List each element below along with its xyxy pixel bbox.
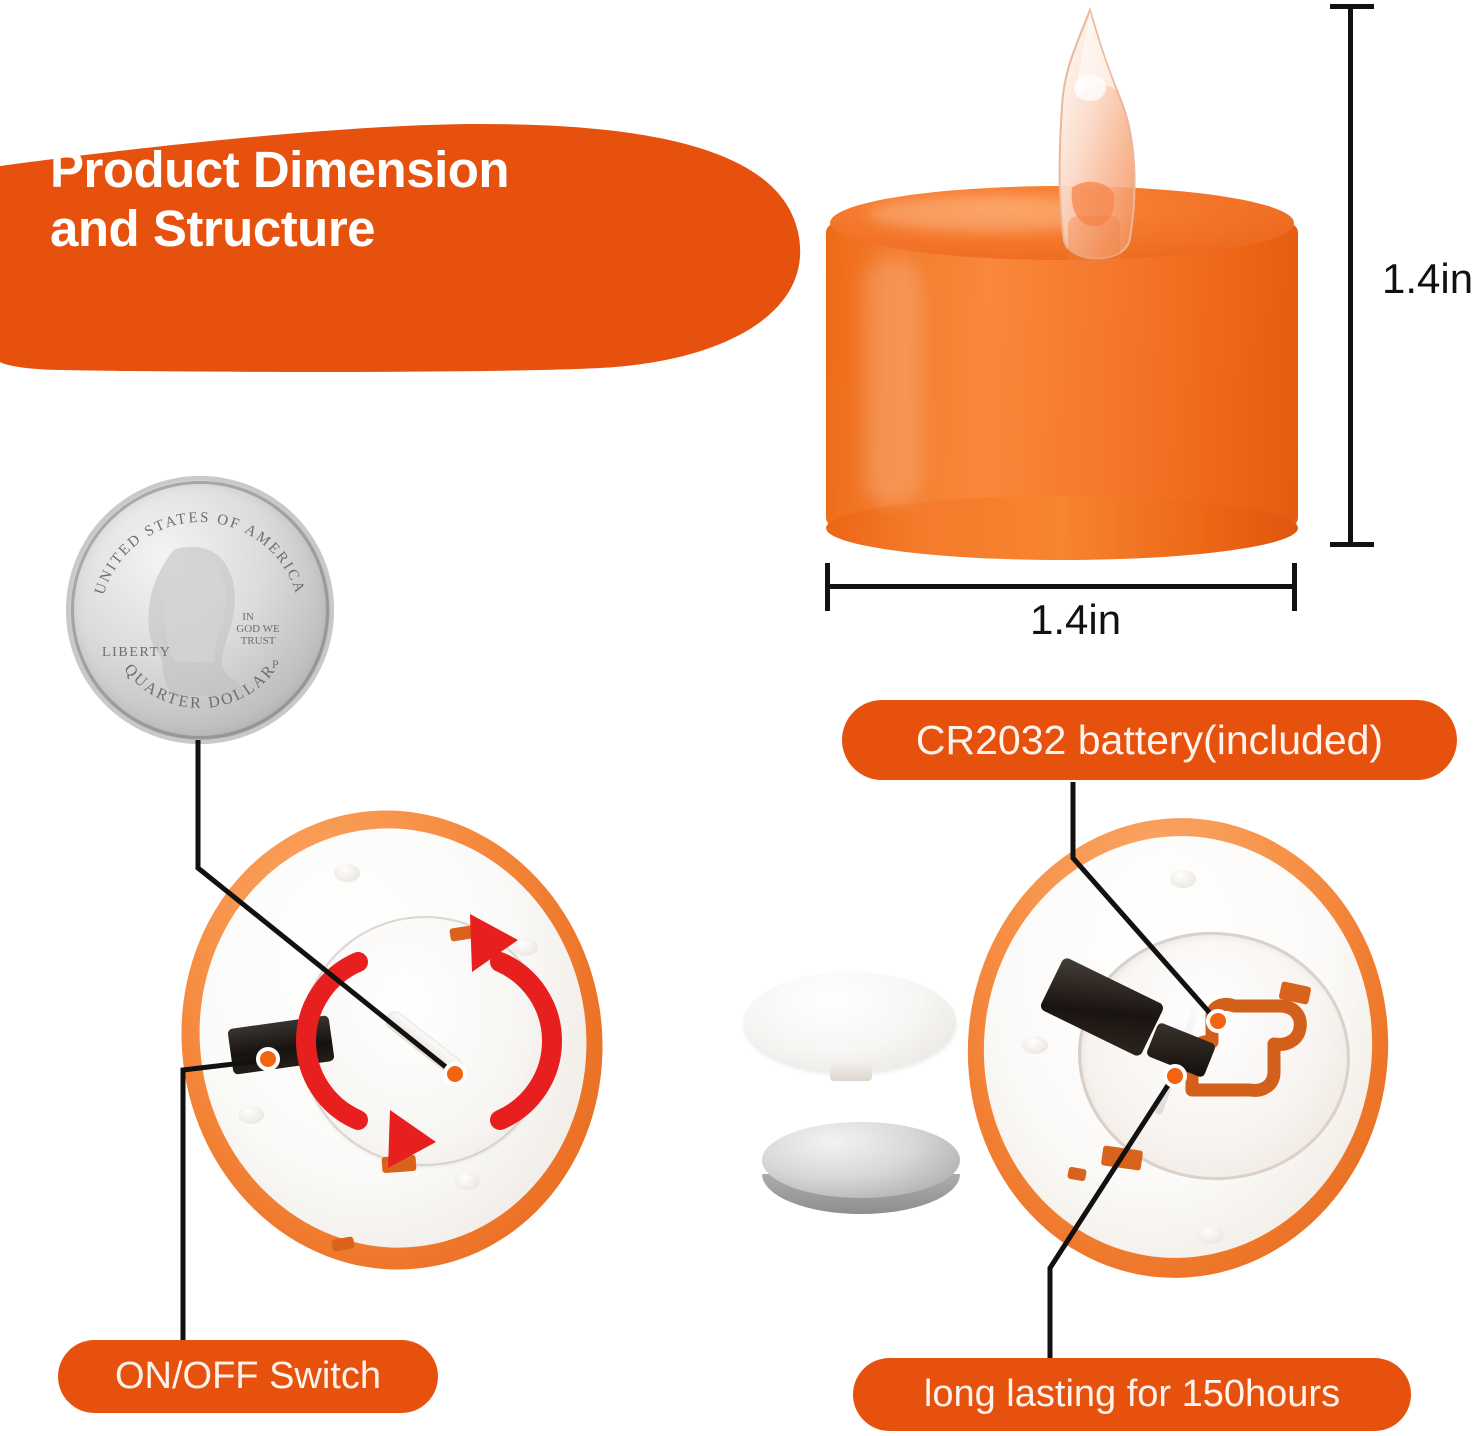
svg-text:P: P bbox=[272, 657, 279, 671]
leader-dot-switch bbox=[256, 1047, 280, 1071]
height-dimension-line bbox=[1348, 6, 1353, 546]
rotate-arrows-icon bbox=[284, 896, 574, 1186]
callout-battery-label: CR2032 battery(included) bbox=[842, 700, 1457, 780]
svg-text:GOD WE: GOD WE bbox=[236, 623, 280, 635]
candle-side-highlight bbox=[864, 256, 922, 506]
base-bump bbox=[1022, 1036, 1048, 1054]
page-title: Product Dimension and Structure bbox=[50, 140, 750, 258]
infographic-canvas: Product Dimension and Structure bbox=[0, 0, 1475, 1436]
leader-dot-battery bbox=[1206, 1009, 1230, 1033]
width-dimension-cap-right bbox=[1292, 563, 1297, 611]
led-flame-bulb-icon bbox=[1028, 2, 1164, 274]
callout-switch-label: ON/OFF Switch bbox=[58, 1340, 438, 1413]
cr2032-coin-cell-part bbox=[762, 1122, 960, 1218]
battery-top-face bbox=[762, 1122, 960, 1198]
battery-cover-nub bbox=[830, 1063, 872, 1081]
height-dimension-cap-bottom bbox=[1330, 542, 1374, 547]
svg-text:LIBERTY: LIBERTY bbox=[102, 645, 171, 660]
base-bump bbox=[1170, 870, 1196, 888]
leader-dot-twist-cap bbox=[443, 1062, 467, 1086]
leader-dot-hours bbox=[1163, 1064, 1187, 1088]
us-quarter-coin: UNITED STATES OF AMERICA QUARTER DOLLAR … bbox=[66, 476, 334, 744]
product-candle-open-battery-view bbox=[968, 818, 1388, 1286]
width-dimension-label: 1.4in bbox=[1030, 596, 1121, 644]
svg-text:TRUST: TRUST bbox=[241, 635, 276, 647]
height-dimension-label: 1.4in bbox=[1382, 255, 1473, 303]
product-candle-bottom-view bbox=[182, 810, 602, 1278]
base-bump bbox=[334, 864, 360, 882]
svg-text:IN: IN bbox=[242, 611, 254, 623]
base-bump bbox=[238, 1106, 264, 1124]
base-bump bbox=[1198, 1226, 1224, 1244]
battery-cover-part bbox=[744, 972, 956, 1072]
width-dimension-line bbox=[827, 584, 1297, 589]
callout-hours-label: long lasting for 150hours bbox=[853, 1358, 1411, 1431]
